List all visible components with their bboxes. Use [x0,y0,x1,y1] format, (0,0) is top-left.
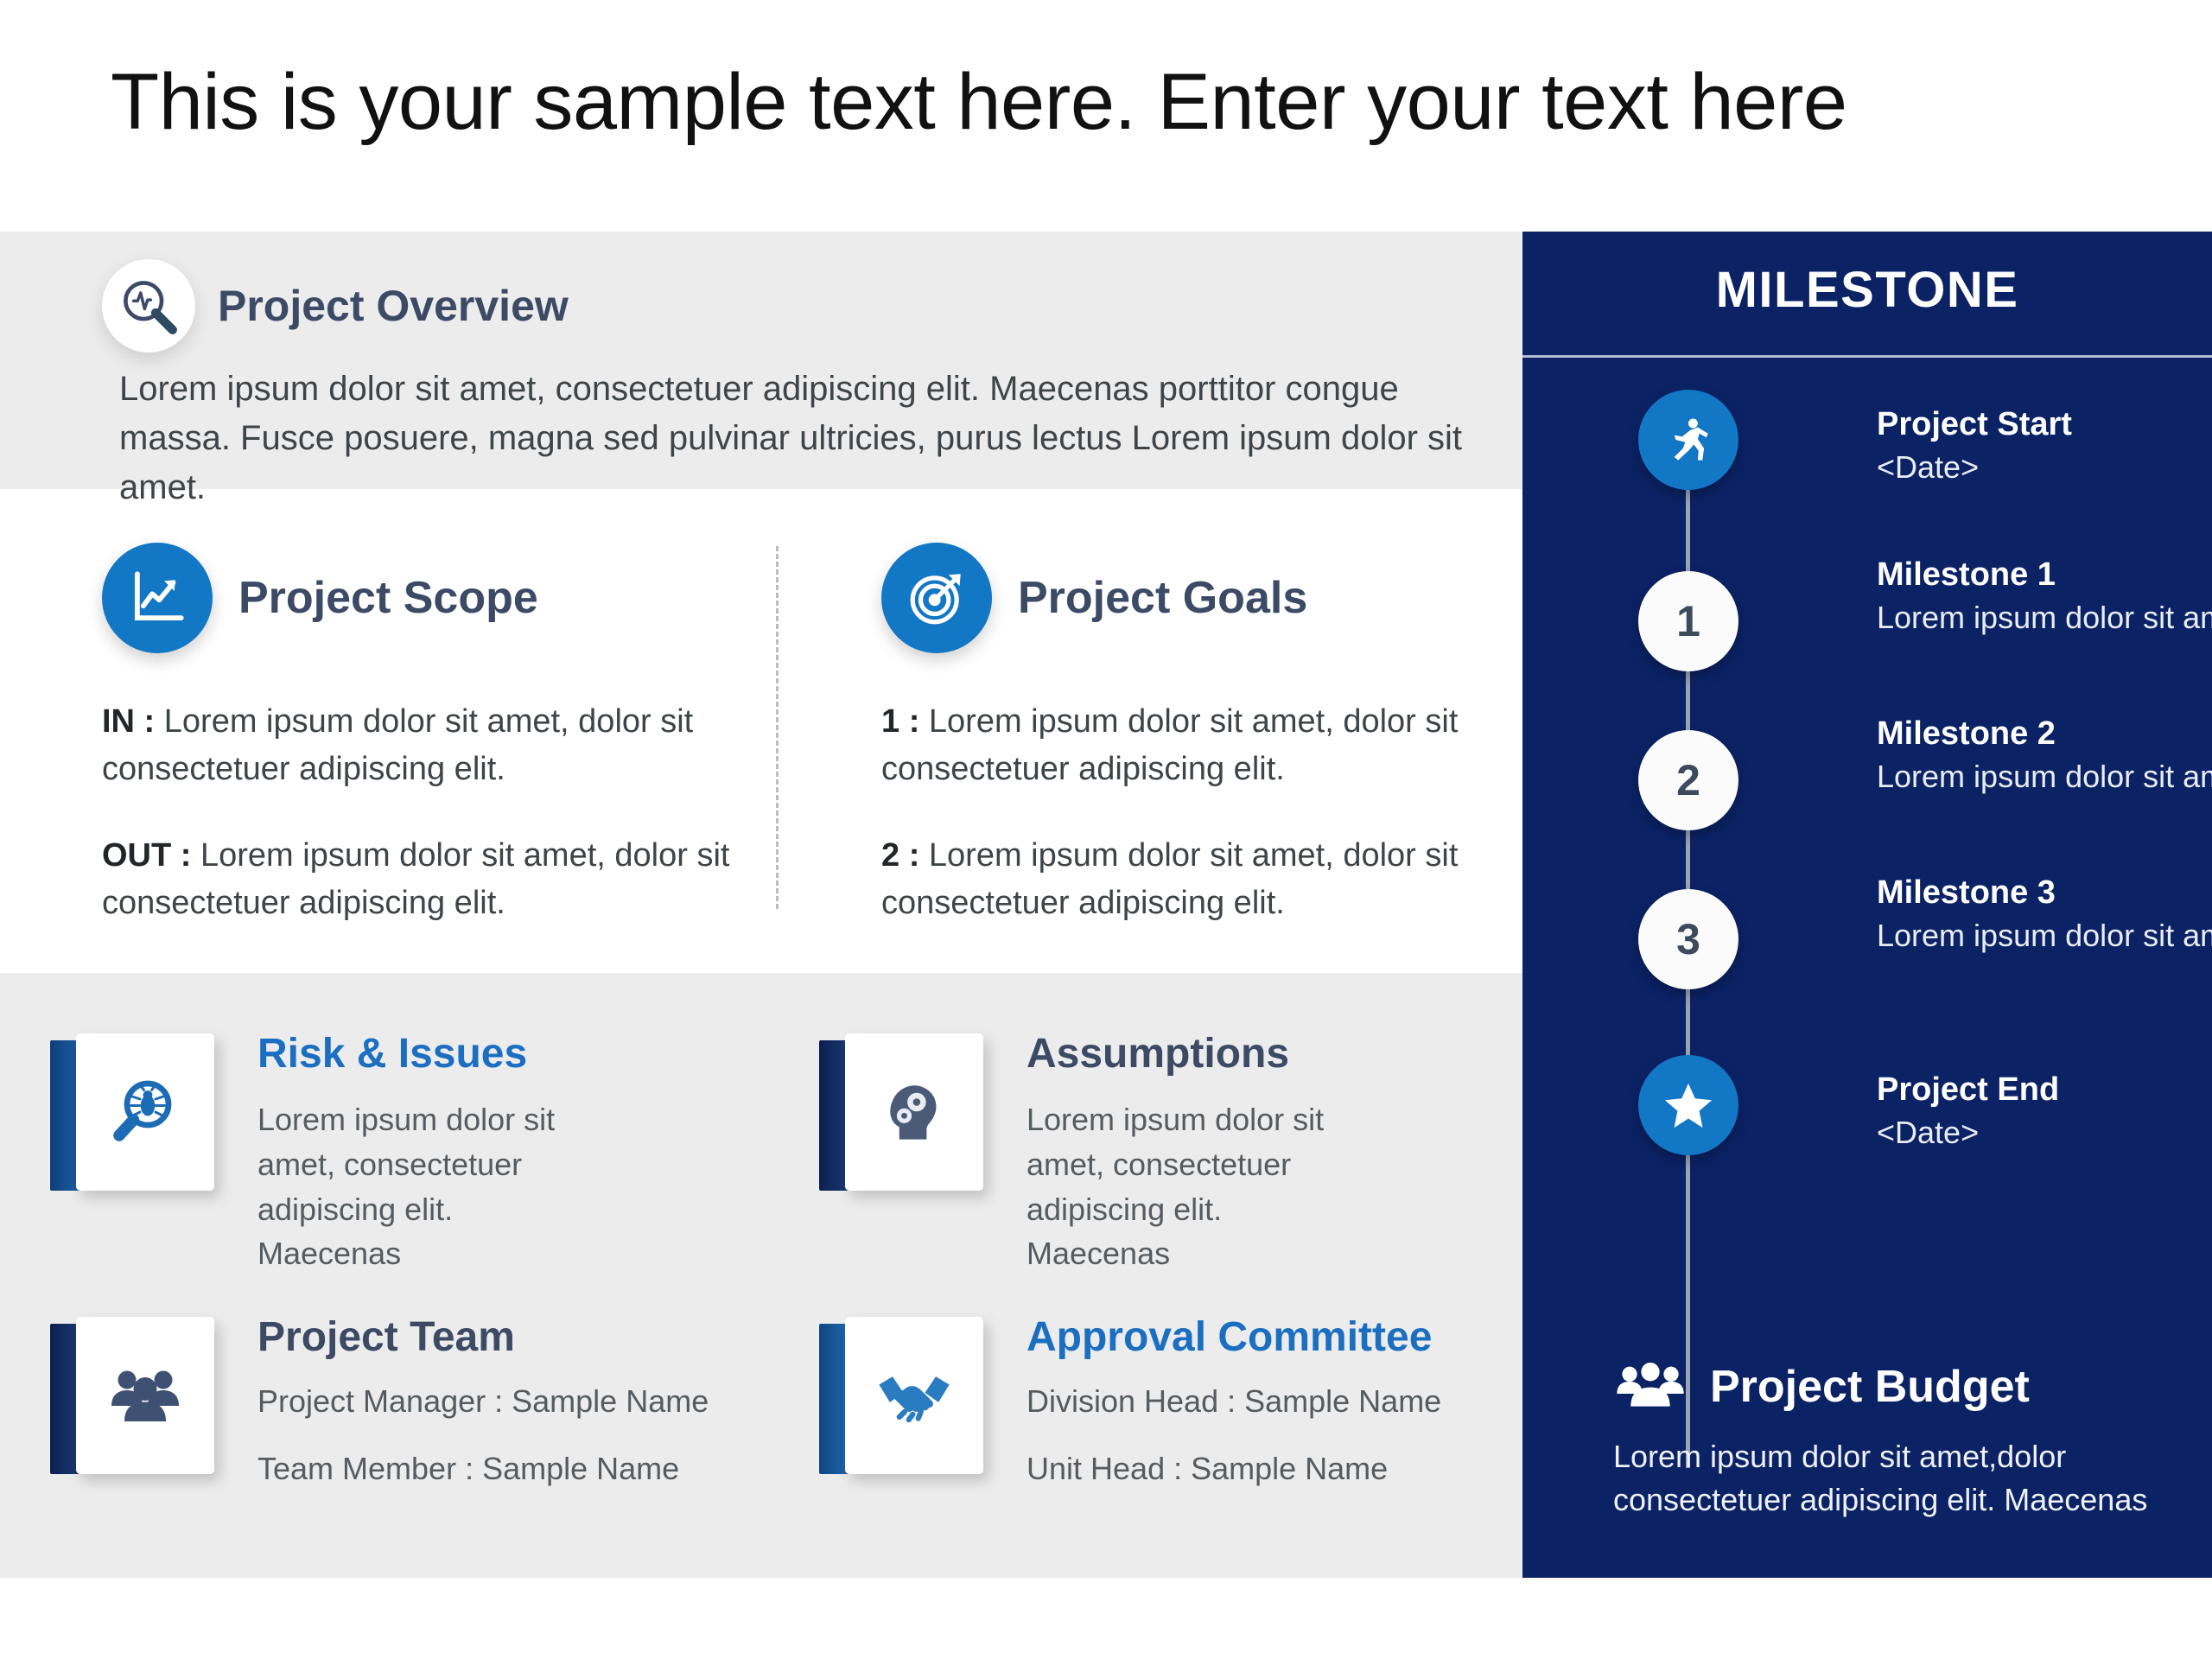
slide-canvas: This is your sample text here. Enter you… [0,0,2212,1659]
assumptions-card: Assumptions Lorem ipsum dolor sit amet, … [819,1033,1372,1276]
handshake-icon [845,1317,983,1474]
timeline-node-sub: Lorem ipsum dolor sit amet [1877,757,2212,798]
goal-item-2-label: 2 : [881,837,919,874]
assumptions-body: Lorem ipsum dolor sit amet, consectetuer… [1027,1097,1372,1276]
scope-goals-divider [776,546,779,909]
approval-committee-title: Approval Committee [1027,1317,1441,1358]
project-team-title: Project Team [257,1317,709,1358]
project-goals-body: 1 : Lorem ipsum dolor sit amet, dolor si… [881,698,1486,927]
timeline-node-project-end[interactable]: Project End <Date> [1618,1055,1759,1197]
milestone-number-badge: 1 [1638,571,1738,671]
milestone-number-badge: 2 [1638,730,1738,830]
timeline-node-sub: <Date> [1877,1113,2212,1154]
project-team-card: Project Team Project Manager : Sample Na… [50,1317,709,1484]
project-goals-header: Project Goals [881,543,1486,653]
project-overview-body: Lorem ipsum dolor sit amet, consectetuer… [119,365,1502,513]
goal-item-1-label: 1 : [881,703,919,740]
approval-line-1: Division Head : Sample Name [1027,1386,1441,1417]
project-goals-title: Project Goals [1018,575,1307,620]
milestone-panel-header: MILESTONE [1522,232,2212,354]
goal-item-1: 1 : Lorem ipsum dolor sit amet, dolor si… [881,698,1486,792]
timeline-node-marker: 3 [1676,918,1700,961]
timeline-node-text: Project End <Date> [1877,1071,2212,1154]
team-card-text: Project Team Project Manager : Sample Na… [257,1317,709,1484]
approval-card-text: Approval Committee Division Head : Sampl… [1027,1317,1441,1484]
milestone-number-badge: 3 [1638,889,1738,989]
project-team-line-2: Team Member : Sample Name [257,1453,709,1484]
timeline-node-text: Project Start <Date> [1877,405,2212,488]
goal-item-2: 2 : Lorem ipsum dolor sit amet, dolor si… [881,832,1486,926]
timeline-node-title: Milestone 1 [1877,556,2212,594]
scope-item-in-label: IN : [102,703,155,740]
timeline-node-milestone-1[interactable]: 1 Milestone 1 Lorem ipsum dolor sit amet [1618,571,1759,713]
timeline-node-marker: 1 [1676,600,1700,643]
milestone-panel: MILESTONE Project Start <Date> [1522,232,2212,1578]
risk-issues-card: Risk & Issues Lorem ipsum dolor sit amet… [50,1033,603,1276]
assumptions-card-icon-frame [819,1033,983,1198]
timeline-node-milestone-2[interactable]: 2 Milestone 2 Lorem ipsum dolor sit amet [1618,730,1759,872]
project-scope-title: Project Scope [238,575,538,620]
team-card-icon-frame [50,1317,214,1481]
timeline-node-text: Milestone 1 Lorem ipsum dolor sit amet [1877,556,2212,639]
risk-issues-title: Risk & Issues [257,1033,603,1075]
project-budget-title: Project Budget [1710,1364,2030,1409]
assumptions-title: Assumptions [1027,1033,1372,1075]
scope-item-out-text: Lorem ipsum dolor sit amet, dolor sit co… [102,837,729,921]
project-overview-title: Project Overview [218,284,569,327]
head-gears-icon [845,1033,983,1191]
goal-item-2-text: Lorem ipsum dolor sit amet, dolor sit co… [881,837,1458,921]
approval-line-2: Unit Head : Sample Name [1027,1453,1441,1484]
star-icon [1638,1055,1738,1155]
magnifier-pulse-icon [102,259,195,353]
risk-issues-body: Lorem ipsum dolor sit amet, consectetuer… [257,1097,603,1276]
timeline-node-title: Project End [1877,1071,2212,1109]
risk-card-icon-frame [50,1033,214,1198]
timeline-node-sub: Lorem ipsum dolor sit amet [1877,598,2212,639]
timeline-node-text: Milestone 2 Lorem ipsum dolor sit amet [1877,715,2212,798]
timeline-node-title: Milestone 2 [1877,715,2212,753]
approval-committee-card: Approval Committee Division Head : Sampl… [819,1317,1441,1484]
scope-item-out: OUT : Lorem ipsum dolor sit amet, dolor … [102,832,741,926]
timeline-node-title: Milestone 3 [1877,874,2212,912]
project-team-line-1: Project Manager : Sample Name [257,1386,709,1417]
timeline-node-marker: 2 [1676,759,1700,802]
project-budget-section: Project Budget Lorem ipsum dolor sit ame… [1613,1359,2183,1521]
growth-chart-icon [102,543,213,653]
project-overview-header: Project Overview [102,259,569,353]
runner-icon [1638,390,1738,490]
project-goals-section: Project Goals 1 : Lorem ipsum dolor sit … [881,543,1486,927]
timeline-node-title: Project Start [1877,405,2212,444]
target-arrow-icon [881,543,992,653]
scope-item-in-text: Lorem ipsum dolor sit amet, dolor sit co… [102,703,693,787]
timeline-node-milestone-3[interactable]: 3 Milestone 3 Lorem ipsum dolor sit amet [1618,889,1759,1031]
people-group-icon [1613,1359,1688,1414]
project-budget-body: Lorem ipsum dolor sit amet,dolor consect… [1613,1435,2183,1521]
project-scope-body: IN : Lorem ipsum dolor sit amet, dolor s… [102,698,741,927]
project-scope-header: Project Scope [102,543,741,653]
project-scope-section: Project Scope IN : Lorem ipsum dolor sit… [102,543,741,927]
timeline-node-project-start[interactable]: Project Start <Date> [1618,390,1759,531]
page-title: This is your sample text here. Enter you… [111,50,2098,154]
assumptions-card-text: Assumptions Lorem ipsum dolor sit amet, … [1027,1033,1372,1276]
timeline-node-sub: Lorem ipsum dolor sit amet [1877,916,2212,957]
milestone-heading: MILESTONE [1522,261,2212,319]
timeline-node-text: Milestone 3 Lorem ipsum dolor sit amet [1877,874,2212,957]
scope-item-in: IN : Lorem ipsum dolor sit amet, dolor s… [102,698,741,792]
timeline-node-sub: <Date> [1877,448,2212,488]
risk-card-text: Risk & Issues Lorem ipsum dolor sit amet… [257,1033,603,1276]
people-group-icon [76,1317,214,1474]
scope-item-out-label: OUT : [102,837,191,874]
bug-magnifier-icon [76,1033,214,1191]
goal-item-1-text: Lorem ipsum dolor sit amet, dolor sit co… [881,703,1458,787]
approval-card-icon-frame [819,1317,983,1481]
project-budget-header: Project Budget [1613,1359,2183,1414]
